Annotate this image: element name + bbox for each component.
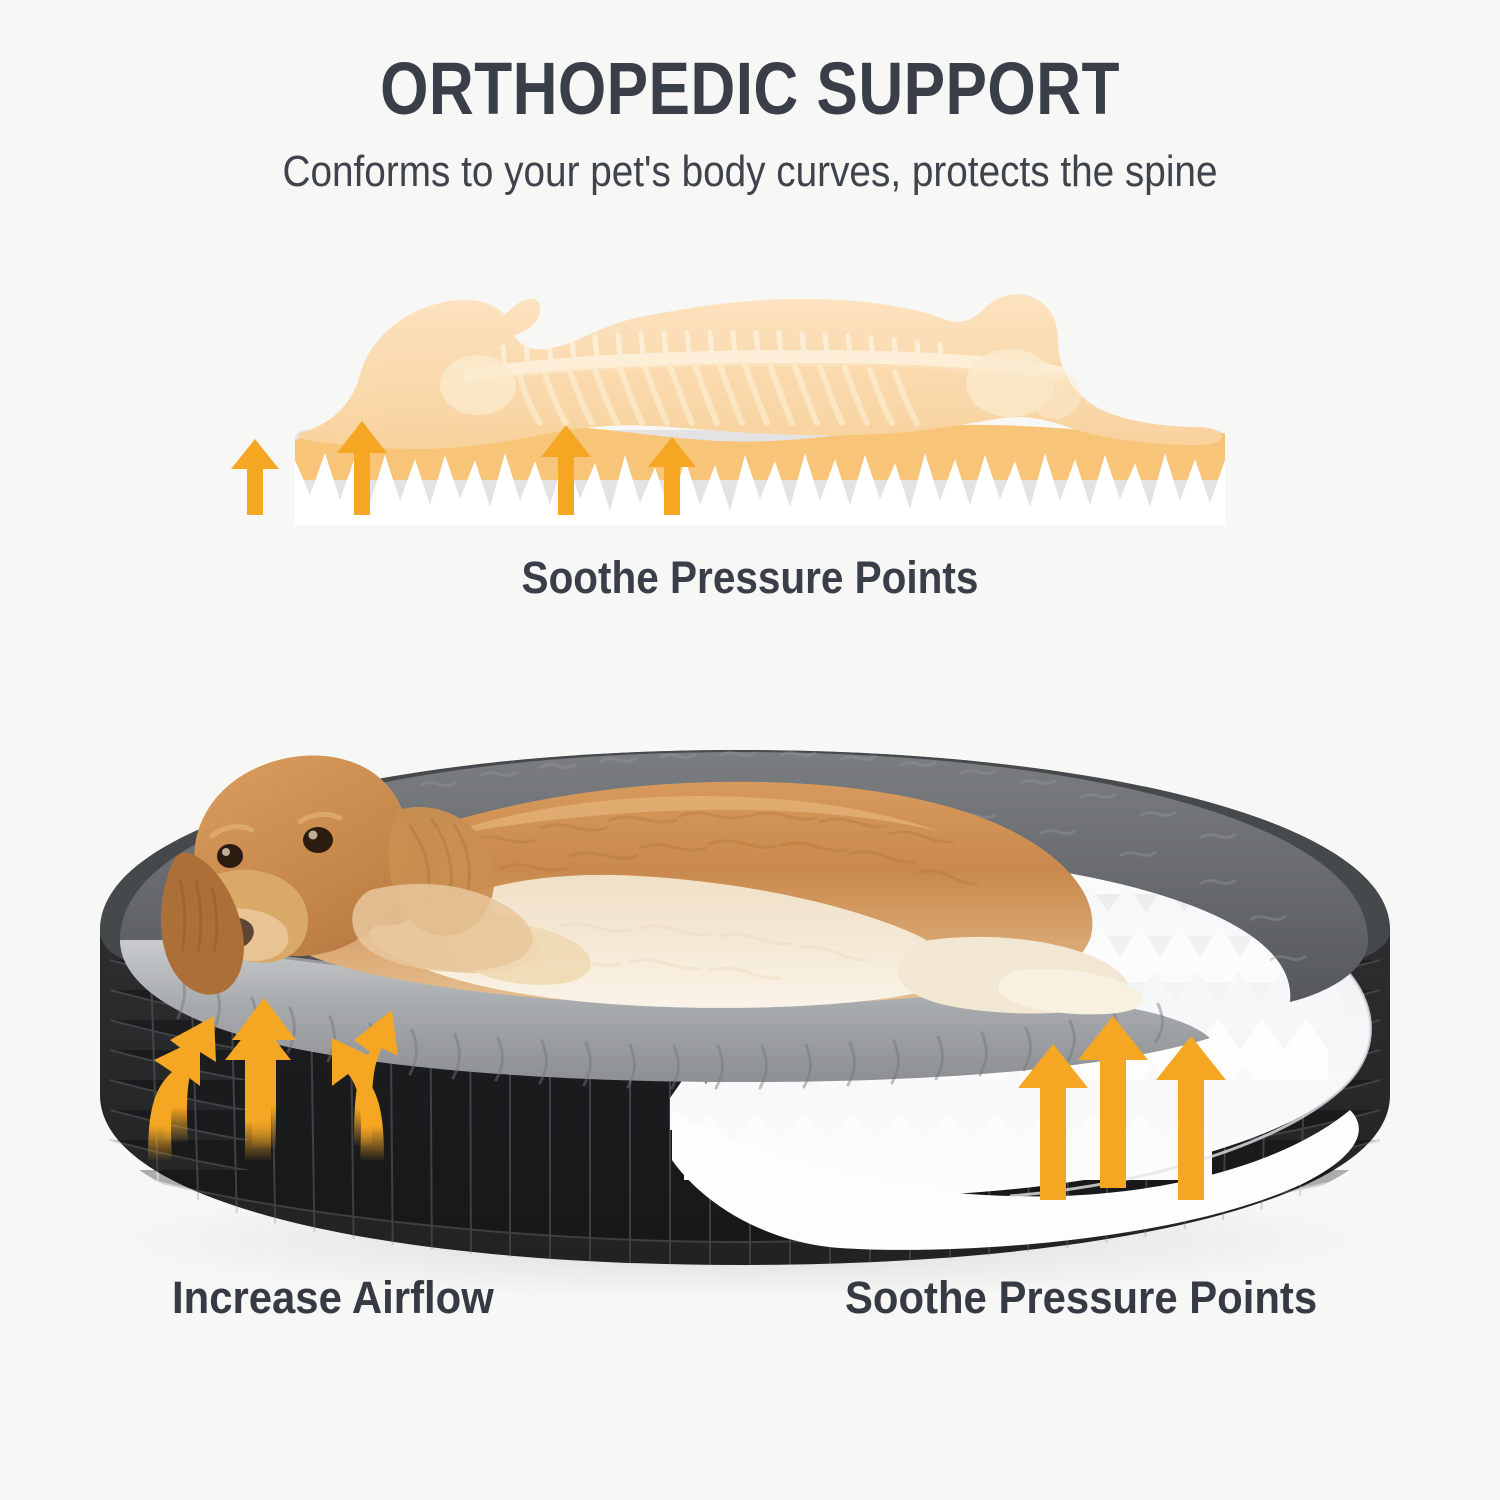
dog-silhouette bbox=[299, 294, 1223, 449]
infographic-canvas: ORTHOPEDIC SUPPORT Conforms to your pet'… bbox=[0, 0, 1500, 1500]
label-increase-airflow: Increase Airflow bbox=[172, 1272, 494, 1324]
bottom-labels: Increase Airflow Soothe Pressure Points bbox=[0, 1272, 1500, 1342]
label-soothe-pressure-points: Soothe Pressure Points bbox=[845, 1272, 1317, 1324]
page-subtitle: Conforms to your pet's body curves, prot… bbox=[90, 126, 1410, 194]
header-block: ORTHOPEDIC SUPPORT Conforms to your pet'… bbox=[0, 0, 1500, 194]
diagram-caption: Soothe Pressure Points bbox=[75, 552, 1425, 604]
product-photo bbox=[0, 640, 1500, 1340]
page-title: ORTHOPEDIC SUPPORT bbox=[120, 0, 1380, 126]
